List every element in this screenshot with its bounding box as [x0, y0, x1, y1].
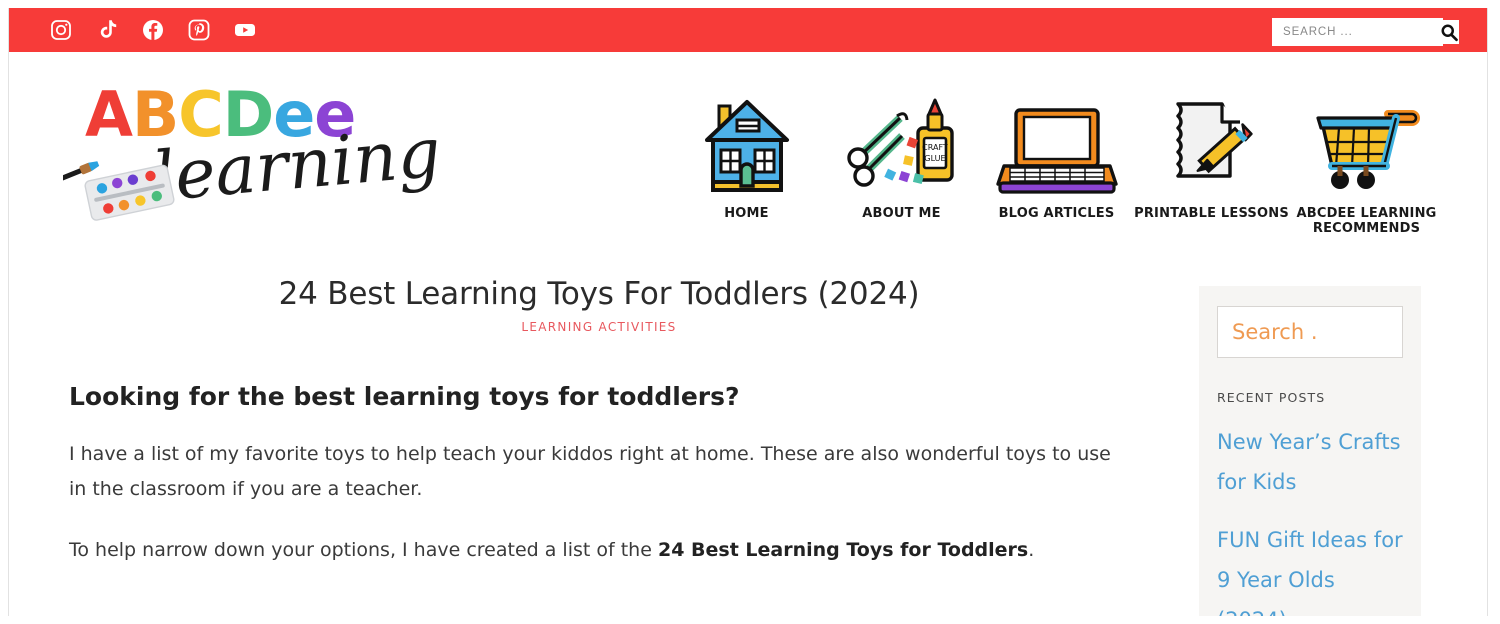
sidebar-search-input[interactable] [1230, 319, 1488, 345]
svg-text:CRAFT: CRAFT [922, 143, 948, 152]
shopping-cart-icon [1306, 92, 1428, 200]
post-subheading: Looking for the best learning toys for t… [69, 382, 1129, 411]
page-frame: ABCDee learning [8, 8, 1488, 616]
sidebar-search[interactable] [1217, 306, 1403, 358]
top-social-bar [9, 8, 1488, 52]
scissors-glue-icon: CRAFT GLUE [842, 92, 962, 200]
post-paragraph-1: I have a list of my favorite toys to hel… [69, 437, 1129, 507]
masthead: ABCDee learning [9, 52, 1488, 268]
article: 24 Best Learning Toys For Toddlers (2024… [9, 268, 1189, 568]
recent-posts-heading: RECENT POSTS [1217, 390, 1403, 405]
paint-palette-icon [63, 160, 183, 222]
nav-item-printable-lessons[interactable]: PRINTABLE LESSONS [1134, 92, 1289, 262]
youtube-icon[interactable] [233, 18, 257, 42]
tiktok-icon[interactable] [95, 18, 119, 42]
nav-label-blog-articles: BLOG ARTICLES [999, 207, 1115, 222]
main-navigation: HOME [669, 92, 1469, 262]
nav-item-blog-articles[interactable]: BLOG ARTICLES [979, 92, 1134, 262]
nav-label-about-me: ABOUT ME [862, 207, 940, 222]
header-search-button[interactable] [1439, 20, 1459, 44]
paragraph-2-bold: 24 Best Learning Toys for Toddlers [658, 539, 1028, 561]
post-paragraph-2: To help narrow down your options, I have… [69, 533, 1129, 568]
header-search-input[interactable] [1281, 20, 1439, 44]
header-search[interactable] [1272, 18, 1443, 46]
svg-text:GLUE: GLUE [924, 154, 945, 163]
nav-label-home: HOME [724, 207, 769, 222]
recent-post-link-1[interactable]: New Year’s Crafts for Kids [1217, 423, 1403, 503]
paper-pencil-icon [1162, 92, 1262, 200]
nav-item-abcdee-learning-recommends[interactable]: ABCDEE LEARNING RECOMMENDS [1289, 92, 1444, 262]
search-icon [1439, 22, 1459, 42]
laptop-icon [994, 92, 1120, 200]
content-area: 24 Best Learning Toys For Toddlers (2024… [9, 268, 1488, 616]
recent-post-link-2[interactable]: FUN Gift Ideas for 9 Year Olds (2024) [1217, 521, 1403, 616]
instagram-icon[interactable] [49, 18, 73, 42]
pinterest-icon[interactable] [187, 18, 211, 42]
paragraph-2-suffix: . [1028, 539, 1034, 561]
post-category[interactable]: LEARNING ACTIVITIES [69, 320, 1129, 334]
facebook-icon[interactable] [141, 18, 165, 42]
social-links [49, 18, 257, 42]
house-icon [701, 92, 793, 200]
nav-label-abcdee-learning-recommends: ABCDEE LEARNING RECOMMENDS [1289, 207, 1444, 237]
nav-item-home[interactable]: HOME [669, 92, 824, 262]
paragraph-2-prefix: To help narrow down your options, I have… [69, 539, 658, 561]
sidebar: RECENT POSTS New Year’s Crafts for Kids … [1199, 286, 1421, 616]
nav-item-about-me[interactable]: CRAFT GLUE ABOUT ME [824, 92, 979, 262]
nav-label-printable-lessons: PRINTABLE LESSONS [1134, 207, 1289, 222]
page-title: 24 Best Learning Toys For Toddlers (2024… [69, 276, 1129, 312]
site-logo[interactable]: ABCDee learning [43, 78, 433, 228]
logo-letter-a: A [85, 84, 132, 146]
